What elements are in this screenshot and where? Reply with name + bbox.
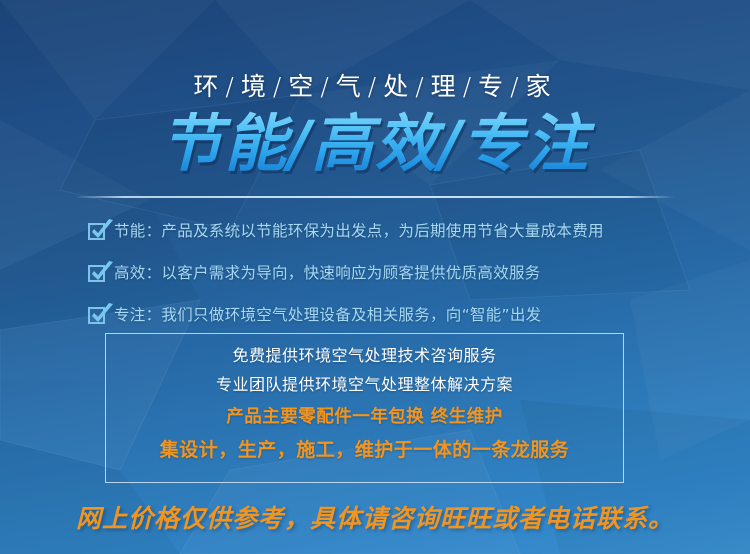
kicker-word: 理	[431, 72, 462, 101]
list-item: 专注：我们只做环境空气处理设备及相关服务，向“智能”出发	[88, 294, 604, 336]
kicker-word: 境	[241, 72, 272, 101]
checkbox-checked-icon	[88, 265, 105, 282]
kicker-word: 处	[383, 72, 414, 101]
checkbox-checked-icon	[88, 307, 105, 324]
list-item-label: 专注：我们只做环境空气处理设备及相关服务，向“智能”出发	[114, 305, 541, 325]
kicker-separator: /	[224, 72, 240, 101]
headline-separator: /	[288, 107, 311, 180]
list-item: 高效：以客户需求为导向，快速响应为顾客提供优质高效服务	[88, 252, 604, 294]
service-panel-line: 专业团队提供环境空气处理整体解决方案	[106, 372, 623, 397]
kicker-word: 空	[288, 72, 319, 101]
kicker-separator: /	[462, 72, 478, 101]
kicker-separator: /	[272, 72, 288, 101]
headline-word: 高效	[311, 107, 439, 180]
service-panel: 免费提供环境空气处理技术咨询服务 专业团队提供环境空气处理整体解决方案 产品主要…	[105, 333, 624, 483]
kicker-heading: 环/境/空/气/处/理/专/家	[0, 72, 750, 102]
headline-separator: /	[439, 107, 462, 180]
kicker-word: 家	[526, 72, 557, 101]
price-notice: 网上价格仅供参考，具体请咨询旺旺或者电话联系。	[0, 500, 750, 538]
headline-word: 专注	[462, 107, 590, 180]
main-headline: 节能/高效/专注	[0, 110, 750, 178]
checkbox-checked-icon	[88, 223, 105, 240]
headline-word: 节能	[160, 107, 288, 180]
promo-banner: 环/境/空/气/处/理/专/家 节能/高效/专注 节能：产品及系统以节能环保为出…	[0, 0, 750, 554]
kicker-word: 专	[478, 72, 509, 101]
kicker-separator: /	[509, 72, 525, 101]
kicker-separator: /	[319, 72, 335, 101]
list-item-label: 节能：产品及系统以节能环保为出发点，为后期使用节省大量成本费用	[114, 221, 604, 241]
kicker-separator: /	[414, 72, 430, 101]
headline-divider	[75, 196, 675, 198]
service-panel-line: 产品主要零配件一年包换 终生维护	[106, 403, 623, 432]
kicker-separator: /	[367, 72, 383, 101]
kicker-word: 气	[336, 72, 367, 101]
service-panel-line: 免费提供环境空气处理技术咨询服务	[106, 343, 623, 368]
kicker-word: 环	[193, 72, 224, 101]
service-panel-line: 集设计，生产，施工，维护于一体的一条龙服务	[106, 435, 623, 466]
list-item-label: 高效：以客户需求为导向，快速响应为顾客提供优质高效服务	[114, 263, 541, 283]
list-item: 节能：产品及系统以节能环保为出发点，为后期使用节省大量成本费用	[88, 210, 604, 252]
feature-list: 节能：产品及系统以节能环保为出发点，为后期使用节省大量成本费用 高效：以客户需求…	[88, 210, 604, 336]
